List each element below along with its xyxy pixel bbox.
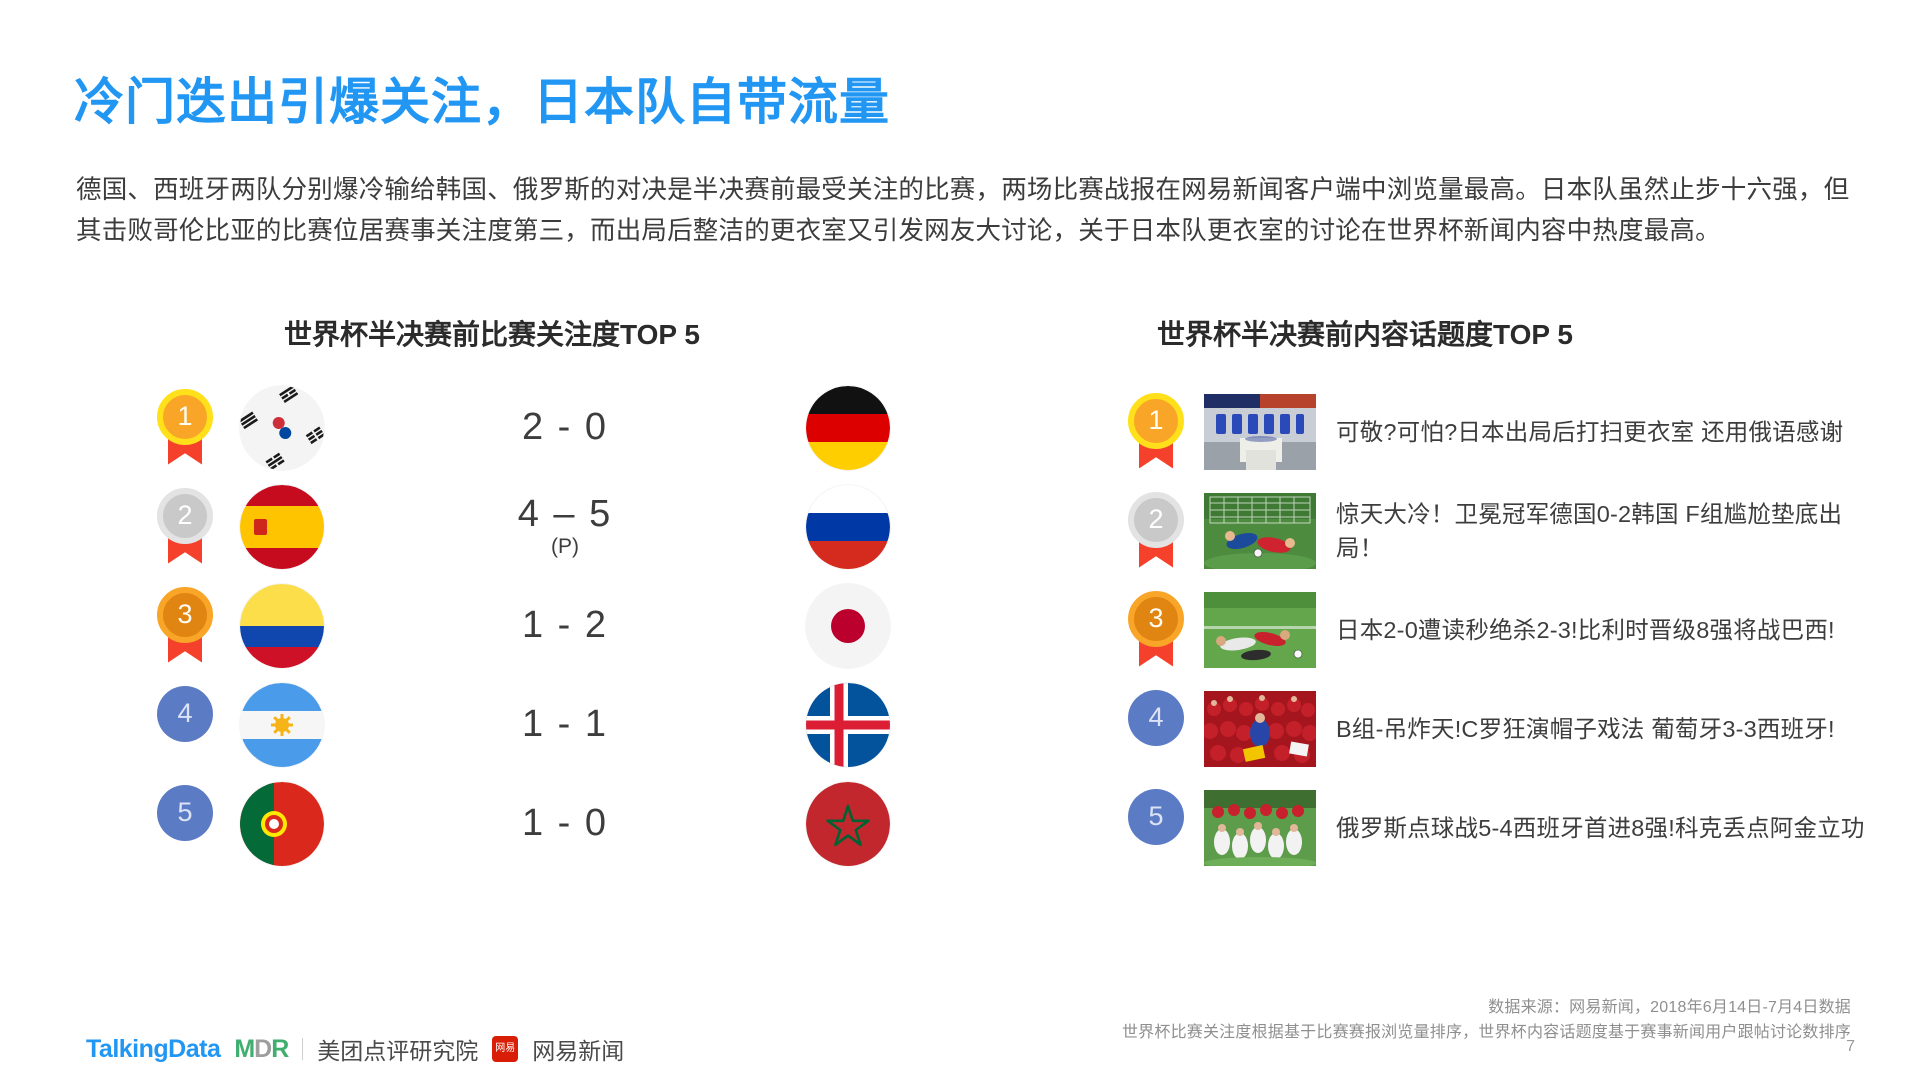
article-row[interactable]: 4 B组-吊炸天!C罗狂演帽子戏法 葡萄牙3-3西班牙! bbox=[1108, 679, 1898, 778]
article-rank-cell: 3 bbox=[1108, 591, 1204, 669]
red-crowd-photo bbox=[1204, 691, 1316, 767]
match-row: 1 2 - 0 bbox=[130, 378, 890, 477]
rank-number: 4 bbox=[157, 686, 213, 742]
match-rank-cell: 5 bbox=[130, 785, 240, 863]
article-rank-cell: 5 bbox=[1108, 789, 1204, 867]
match-score-note: (P) bbox=[324, 536, 806, 558]
celebration-photo bbox=[1204, 790, 1316, 866]
flag-russia-icon bbox=[806, 485, 890, 569]
mdr-logo-r: R bbox=[271, 1035, 288, 1063]
source-line-2: 世界杯比赛关注度根据基于比赛赛报浏览量排序，世界杯内容话题度基于赛事新闻用户跟帖… bbox=[1122, 1020, 1851, 1045]
meituan-research-logo: 美团点评研究院 bbox=[317, 1032, 478, 1066]
match-rank-cell: 2 bbox=[130, 488, 240, 566]
match-score: 1 - 1 bbox=[324, 705, 806, 745]
flag-germany-icon bbox=[806, 386, 890, 470]
flag-korea-icon bbox=[240, 386, 324, 470]
article-row[interactable]: 1 可敬?可怕?日本出局后打扫更衣室 还用俄语感谢 bbox=[1108, 382, 1898, 481]
netease-mark-icon: 网易 bbox=[492, 1036, 518, 1062]
rank-number: 2 bbox=[1128, 492, 1184, 548]
page-number: 7 bbox=[1846, 1038, 1855, 1056]
match-row: 4 1 - 1 bbox=[130, 675, 890, 774]
rank-number: 1 bbox=[157, 389, 213, 445]
article-title[interactable]: 可敬?可怕?日本出局后打扫更衣室 还用俄语感谢 bbox=[1336, 415, 1843, 449]
rank-number: 3 bbox=[157, 587, 213, 643]
rank-badge-4-article: 4 bbox=[1125, 690, 1187, 768]
match-score: 2 - 0 bbox=[324, 408, 806, 448]
rank-number: 5 bbox=[157, 785, 213, 841]
match-row: 5 1 - 0 bbox=[130, 774, 890, 873]
article-row[interactable]: 2 惊天大冷！卫冕冠军德国0-2韩国 F组尴尬垫底出局！ bbox=[1108, 481, 1898, 580]
match-row: 3 1 - 2 bbox=[130, 576, 890, 675]
match-rank-cell: 1 bbox=[130, 389, 240, 467]
flag-spain-icon bbox=[240, 485, 324, 569]
article-title[interactable]: B组-吊炸天!C罗狂演帽子戏法 葡萄牙3-3西班牙! bbox=[1336, 712, 1835, 746]
flag-colombia-icon bbox=[240, 584, 324, 668]
mdr-logo-m: M bbox=[234, 1035, 254, 1063]
rank-badge-1-article: 1 bbox=[1125, 393, 1187, 471]
rank-number: 5 bbox=[1128, 789, 1184, 845]
article-rank-cell: 4 bbox=[1108, 690, 1204, 768]
rank-badge-3-match: 3 bbox=[154, 587, 216, 665]
mdr-logo: MDR bbox=[234, 1035, 288, 1064]
rank-number: 2 bbox=[157, 488, 213, 544]
slide-root: 冷门迭出引爆关注，日本队自带流量 德国、西班牙两队分别爆冷输给韩国、俄罗斯的对决… bbox=[0, 0, 1921, 1080]
article-title[interactable]: 惊天大冷！卫冕冠军德国0-2韩国 F组尴尬垫底出局！ bbox=[1336, 497, 1876, 565]
goal-save-photo bbox=[1204, 493, 1316, 569]
match-score: 1 - 0 bbox=[324, 804, 806, 844]
flag-argentina-icon bbox=[240, 683, 324, 767]
match-rank-cell: 3 bbox=[130, 587, 240, 665]
talkingdata-logo: TalkingData bbox=[86, 1035, 220, 1064]
article-row[interactable]: 5 俄罗斯点球战5-4西班牙首进8强!科克丢点阿金立功 bbox=[1108, 778, 1898, 877]
match-score: 4 – 5(P) bbox=[324, 495, 806, 559]
intro-paragraph: 德国、西班牙两队分别爆冷输给韩国、俄罗斯的对决是半决赛前最受关注的比赛，两场比赛… bbox=[76, 170, 1856, 252]
rank-badge-5-match: 5 bbox=[154, 785, 216, 863]
rank-badge-2-article: 2 bbox=[1125, 492, 1187, 570]
rank-number: 3 bbox=[1128, 591, 1184, 647]
rank-badge-3-article: 3 bbox=[1125, 591, 1187, 669]
article-title[interactable]: 日本2-0遭读秒绝杀2-3!比利时晋级8强将战巴西! bbox=[1336, 613, 1835, 647]
locker-room-photo bbox=[1204, 394, 1316, 470]
article-rank-cell: 1 bbox=[1108, 393, 1204, 471]
netease-news-logo: 网易新闻 bbox=[532, 1032, 624, 1066]
source-note: 数据来源：网易新闻，2018年6月14日-7月4日数据 世界杯比赛关注度根据基于… bbox=[1122, 995, 1851, 1045]
article-row[interactable]: 3 日本2-0遭读秒绝杀2-3!比利时晋级8强将战巴西! bbox=[1108, 580, 1898, 679]
right-panel-heading: 世界杯半决赛前内容话题度TOP 5 bbox=[1157, 313, 1573, 353]
left-panel-heading: 世界杯半决赛前比赛关注度TOP 5 bbox=[284, 313, 700, 353]
source-line-1: 数据来源：网易新闻，2018年6月14日-7月4日数据 bbox=[1122, 995, 1851, 1020]
flag-iceland-icon bbox=[806, 683, 890, 767]
flag-morocco-icon bbox=[806, 782, 890, 866]
logo-divider bbox=[302, 1038, 303, 1060]
flag-japan-icon bbox=[806, 584, 890, 668]
rank-badge-5-article: 5 bbox=[1125, 789, 1187, 867]
footer-logos: TalkingData MDR 美团点评研究院 网易 网易新闻 bbox=[86, 1032, 624, 1066]
rank-badge-4-match: 4 bbox=[154, 686, 216, 764]
match-ranking-list: 1 2 - 0 2 4 – 5(P) 3 1 - 24 1 - 1 5 1 - … bbox=[130, 378, 890, 873]
mdr-logo-d: D bbox=[254, 1035, 271, 1063]
rank-badge-1-match: 1 bbox=[154, 389, 216, 467]
rank-number: 4 bbox=[1128, 690, 1184, 746]
rank-badge-2-match: 2 bbox=[154, 488, 216, 566]
article-title[interactable]: 俄罗斯点球战5-4西班牙首进8强!科克丢点阿金立功 bbox=[1336, 811, 1865, 845]
pitch-players-photo bbox=[1204, 592, 1316, 668]
flag-portugal-icon bbox=[240, 782, 324, 866]
article-rank-cell: 2 bbox=[1108, 492, 1204, 570]
match-row: 2 4 – 5(P) bbox=[130, 477, 890, 576]
article-ranking-list: 1 可敬?可怕?日本出局后打扫更衣室 还用俄语感谢2 惊天大冷！卫冕冠军德国0-… bbox=[1108, 382, 1898, 877]
match-score: 1 - 2 bbox=[324, 606, 806, 646]
match-rank-cell: 4 bbox=[130, 686, 240, 764]
page-title: 冷门迭出引爆关注，日本队自带流量 bbox=[74, 62, 890, 134]
rank-number: 1 bbox=[1128, 393, 1184, 449]
